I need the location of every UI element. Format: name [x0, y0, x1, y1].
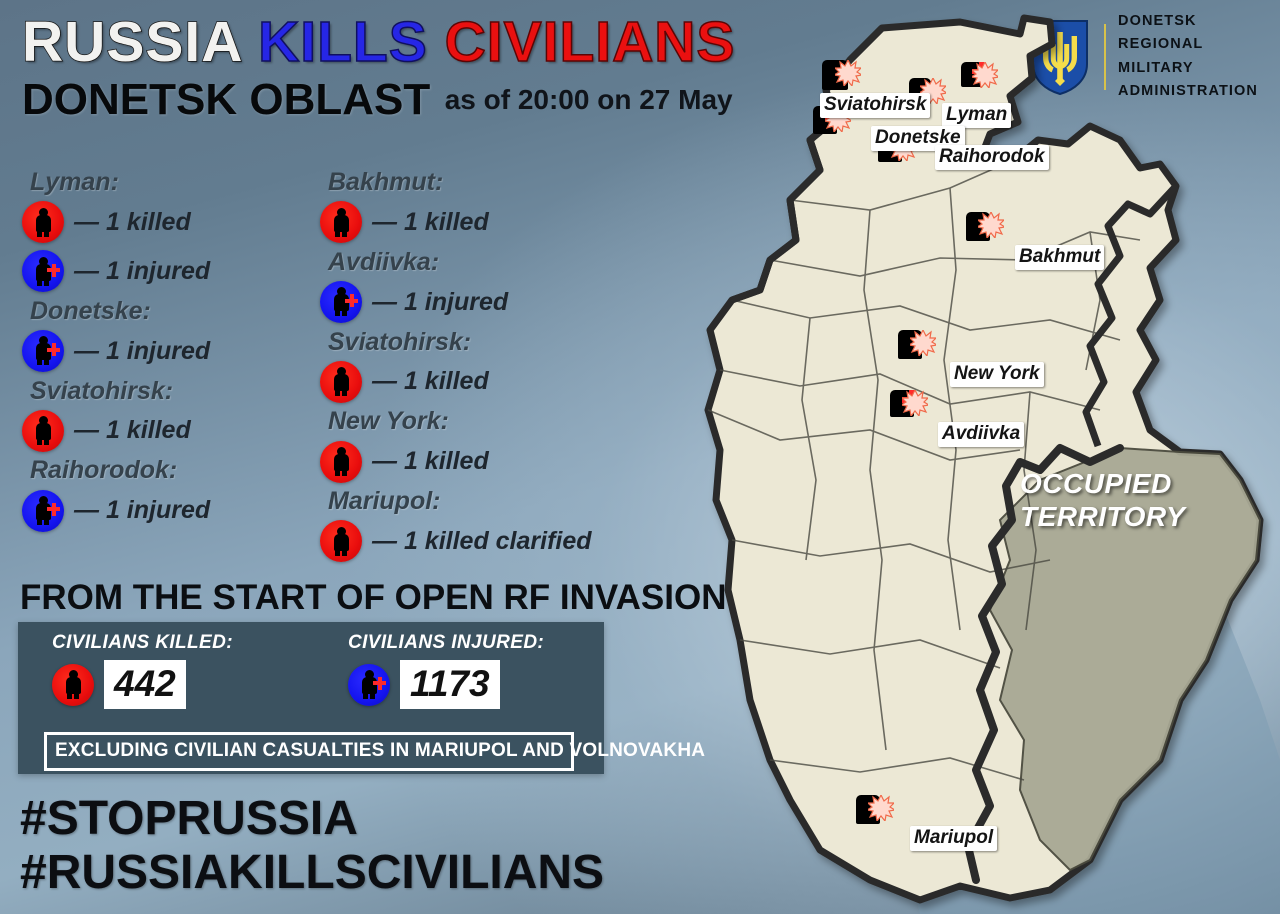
occupied-line-2: TERRITORY: [1020, 500, 1185, 533]
city-name: Sviatohirsk:: [328, 328, 640, 357]
title-word-russia: RUSSIA: [22, 10, 241, 74]
casualty-text: — 1 killed: [74, 416, 191, 445]
map-city-label: Lyman: [942, 103, 1011, 128]
occupied-territory-label: OCCUPIED TERRITORY: [1020, 467, 1185, 533]
explosion-icon: [902, 390, 928, 416]
casualty-text: — 1 killed: [74, 208, 191, 237]
injured-icon: [22, 490, 64, 532]
killed-icon: [22, 410, 64, 452]
killed-icon: [320, 520, 362, 562]
city-name: Sviatohirsk:: [30, 377, 322, 406]
casualty-text: — 1 killed clarified: [372, 527, 592, 556]
casualty-entry: — 1 killed: [320, 438, 640, 485]
map-city-label: Avdiivka: [938, 422, 1024, 447]
map-city-label: New York: [950, 362, 1044, 387]
explosion-icon: [835, 60, 861, 86]
city-name: Avdiivka:: [328, 248, 640, 277]
hashtag-1: #STOPRUSSIA: [20, 792, 604, 846]
oblast-name: DONETSK OBLAST: [22, 75, 430, 124]
explosion-icon: [910, 330, 936, 356]
casualty-entry: — 1 killed: [320, 358, 640, 405]
city-name: Bakhmut:: [328, 168, 640, 197]
casualty-entry: — 1 injured: [22, 328, 322, 375]
injured-icon: [22, 250, 64, 292]
casualty-text: — 1 injured: [372, 288, 508, 317]
city-name: Mariupol:: [328, 487, 640, 516]
casualty-entry: — 1 killed: [320, 199, 640, 246]
casualty-entry: — 1 injured: [22, 248, 322, 295]
map-city-label: Mariupol: [910, 826, 997, 851]
casualty-entry: — 1 killed: [22, 199, 322, 246]
killed-icon: [320, 361, 362, 403]
casualty-entry: — 1 injured: [22, 487, 322, 534]
casualty-text: — 1 killed: [372, 447, 489, 476]
casualty-text: — 1 injured: [74, 257, 210, 286]
explosion-icon: [868, 795, 894, 821]
hashtags: #STOPRUSSIA #RUSSIAKILLSCIVILIANS: [20, 792, 604, 900]
casualty-entry: — 1 killed: [22, 407, 322, 454]
injured-icon: [348, 664, 390, 706]
casualty-entry: — 1 killed clarified: [320, 518, 640, 565]
total-killed-block: CIVILIANS KILLED: 442: [52, 632, 233, 709]
explosion-icon: [972, 62, 998, 88]
casualty-column-right: Bakhmut:— 1 killedAvdiivka:— 1 injuredSv…: [320, 168, 640, 567]
city-name: Raihorodok:: [30, 456, 322, 485]
title-word-kills: KILLS: [258, 10, 428, 74]
casualty-text: — 1 killed: [372, 208, 489, 237]
occupied-line-1: OCCUPIED: [1020, 467, 1185, 500]
casualty-text: — 1 injured: [74, 496, 210, 525]
disclaimer-box: EXCLUDING CIVILIAN CASUALTIES IN MARIUPO…: [44, 732, 574, 771]
explosion-icon: [978, 212, 1004, 238]
infographic-root: RUSSIA KILLS CIVILIANS DONETSK OBLAST as…: [0, 0, 1280, 914]
total-killed-label: CIVILIANS KILLED:: [52, 632, 233, 654]
total-injured-value: 1173: [400, 660, 500, 709]
total-injured-label: CIVILIANS INJURED:: [348, 632, 544, 654]
total-injured-block: CIVILIANS INJURED: 1173: [348, 632, 544, 709]
city-name: New York:: [328, 407, 640, 436]
killed-icon: [22, 201, 64, 243]
casualty-column-left: Lyman:— 1 killed— 1 injuredDonetske:— 1 …: [22, 168, 322, 536]
total-killed-value: 442: [104, 660, 186, 709]
totals-panel: CIVILIANS KILLED: 442 CIVILIANS INJURED:…: [18, 622, 604, 774]
hashtag-2: #RUSSIAKILLSCIVILIANS: [20, 846, 604, 900]
map-city-label: Sviatohirsk: [820, 93, 930, 118]
injured-icon: [320, 281, 362, 323]
map-city-label: Bakhmut: [1015, 245, 1104, 270]
donetsk-oblast-map: SviatohirskLymanDonetskeRaihorodokBakhmu…: [620, 0, 1280, 914]
casualty-text: — 1 killed: [372, 367, 489, 396]
casualty-text: — 1 injured: [74, 337, 210, 366]
city-name: Donetske:: [30, 297, 322, 326]
disclaimer-text: EXCLUDING CIVILIAN CASUALTIES IN MARIUPO…: [55, 740, 705, 761]
city-name: Lyman:: [30, 168, 322, 197]
killed-icon: [320, 201, 362, 243]
injured-icon: [22, 330, 64, 372]
killed-icon: [320, 441, 362, 483]
killed-icon: [52, 664, 94, 706]
map-city-label: Raihorodok: [935, 145, 1049, 170]
casualty-entry: — 1 injured: [320, 279, 640, 326]
